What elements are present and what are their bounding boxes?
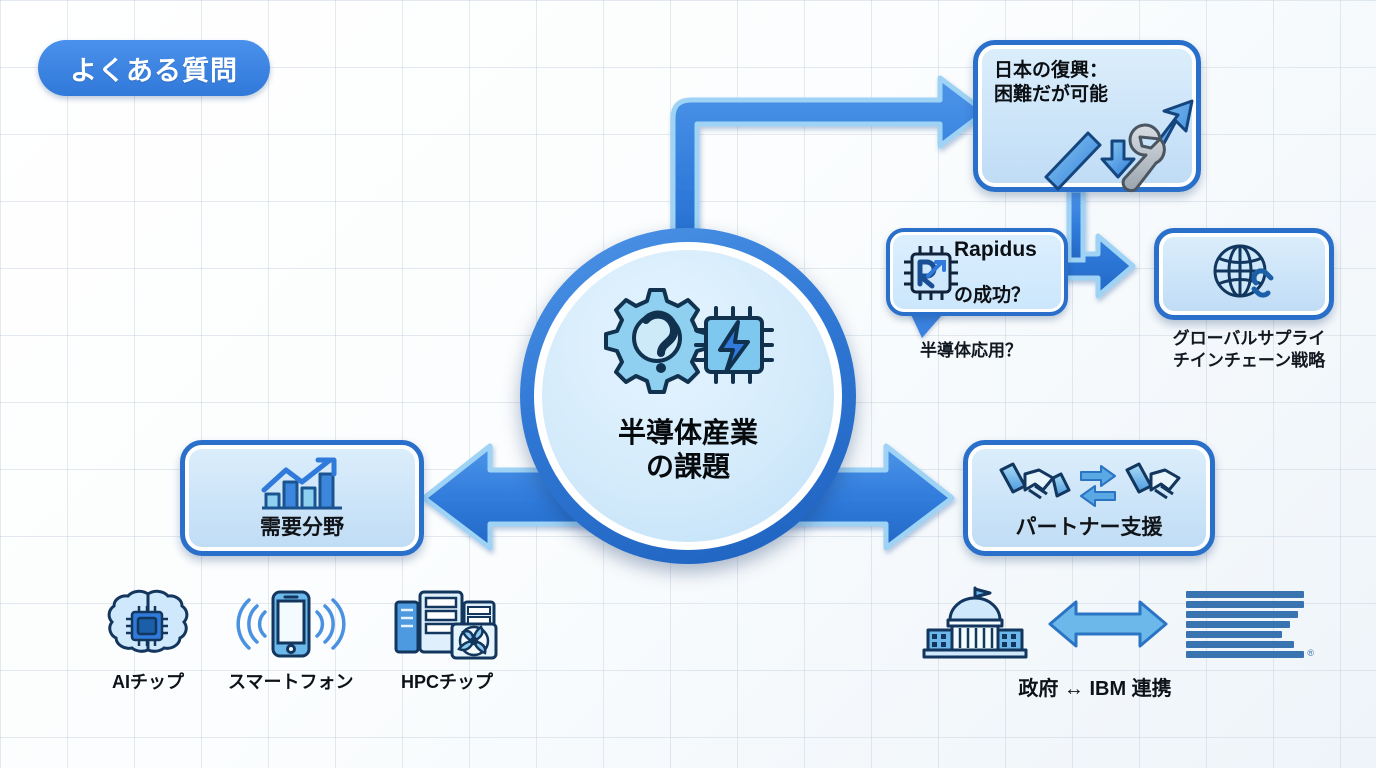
ibm-logo-icon: ®: [1186, 591, 1304, 658]
center-node-label: 半導体産業 の課題: [618, 416, 758, 483]
bar-icon: [1046, 133, 1100, 189]
node-rapidus[interactable]: Rapidus の成功？: [886, 228, 1068, 316]
center-icons: [588, 280, 788, 410]
caption-semiconductor-application: 半導体応用？: [920, 336, 1022, 361]
node-japan-recovery[interactable]: 日本の復興： 困難だが可能: [973, 40, 1201, 192]
demand-item-ai-chip-label: AIチップ: [112, 668, 184, 694]
caption-government-ibm: 政府 ↔ IBM 連携: [920, 672, 1270, 701]
brain-chip-icon: [100, 588, 196, 662]
handshake-left: [1001, 464, 1069, 498]
rapidus-name: Rapidus: [954, 237, 1037, 262]
handshake-exchange-icon: [995, 456, 1183, 514]
exchange-arrows-icon: [1081, 466, 1115, 506]
gear-icon: [606, 290, 708, 392]
page-title-badge: よくある質問: [38, 40, 270, 96]
globe-link-icon: [1204, 241, 1284, 307]
node-rapidus-label: Rapidus の成功？: [954, 214, 1037, 330]
partner-item-row: ®: [920, 586, 1304, 662]
demand-item-smartphone-label: スマートフォン: [228, 668, 353, 694]
demand-item-smartphone[interactable]: スマートフォン: [228, 588, 353, 694]
page-title: よくある質問: [70, 49, 238, 88]
smartphone-signal-icon: [229, 588, 353, 662]
demand-item-hpc-chip[interactable]: HPCチップ: [392, 588, 502, 694]
chip-lightning-icon: [696, 308, 772, 382]
demand-item-hpc-chip-label: HPCチップ: [401, 668, 493, 694]
center-node[interactable]: 半導体産業 の課題: [542, 250, 834, 542]
fan-icon: [459, 627, 488, 655]
recovery-icons: [1036, 81, 1196, 193]
node-partner-support[interactable]: パートナー支援: [963, 440, 1215, 556]
node-demand-label: 需要分野: [260, 516, 344, 541]
server-fan-icon: [392, 588, 502, 662]
caption-supply-chain: グローバルサプライ チインチェーン戦略: [1154, 328, 1344, 372]
registered-mark: ®: [1307, 648, 1314, 658]
infographic-canvas: よくある質問 日本の復興： 困難だが可能: [0, 0, 1376, 768]
node-supply-chain[interactable]: [1154, 228, 1334, 320]
growth-chart-icon: [256, 456, 348, 514]
node-partner-label: パートナー支援: [1016, 516, 1163, 541]
handshake-right: [1127, 464, 1179, 498]
demand-item-ai-chip[interactable]: AIチップ: [100, 588, 196, 694]
government-building-icon[interactable]: [920, 586, 1030, 662]
double-arrow-icon: [1048, 594, 1168, 654]
node-demand-fields[interactable]: 需要分野: [180, 440, 424, 556]
chip-growth-icon: [900, 242, 962, 304]
rapidus-question: の成功？: [954, 285, 1037, 308]
